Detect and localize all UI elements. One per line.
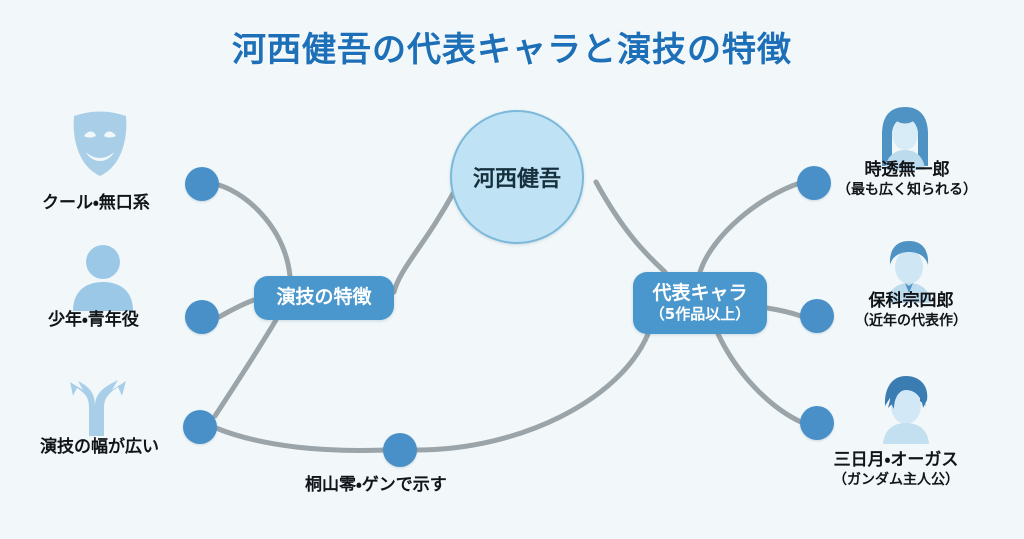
branch-node-acting[interactable]: 演技の特徴 [254,276,394,320]
leaf-label-range: 演技の幅が広い [40,437,159,458]
leaf-kiriyama-text: 桐山零・ゲンで示す [305,475,447,495]
leaf-hoshina-text: 保科宗四郎 [869,291,954,311]
link-hub-characters [596,182,665,272]
leaf-dot-mikazuki[interactable] [800,406,834,440]
leaf-dot-youth[interactable] [185,300,219,334]
branch-characters-label: 代表キャラ [652,283,747,305]
link-leaf3-leaf4 [216,428,384,450]
leaf-dot-cool[interactable] [185,167,219,201]
link-characters-char2 [767,308,801,316]
leaf-dot-tokito[interactable] [797,166,831,200]
leaf-range-text: 演技の幅が広い [40,437,159,457]
hub-node[interactable]: 河西健吾 [450,110,584,244]
leaf-mikazuki-text: 三日月・オーガス [834,450,959,470]
leaf-hoshina-subtext: （近年の代表作） [855,313,967,331]
branch-characters-sublabel: （5作品以上） [650,306,750,323]
theater-mask-icon [62,108,138,184]
leaf-dot-kiriyama[interactable] [383,433,417,467]
link-characters-leaf4 [416,334,648,450]
link-acting-leaf3 [215,320,276,416]
leaf-label-tokito: 時透無一郎 （最も広く知られる） [837,160,977,200]
link-characters-char3 [718,334,801,422]
person-silhouette-icon [70,243,136,315]
branching-arrows-icon [62,366,138,440]
link-hub-acting [394,190,455,292]
leaf-youth-text: 少年・青年役 [48,310,139,330]
leaf-cool-text: クール・無口系 [42,193,150,213]
branch-acting-label: 演技の特徴 [276,287,371,309]
link-acting-leaf1 [219,185,290,276]
leaf-tokito-text: 時透無一郎 [865,160,950,180]
mindmap-canvas: 河西健吾の代表キャラと演技の特徴 河西健吾 演技の特徴 代表キャラ （5作品以上… [0,0,1024,539]
leaf-label-hoshina: 保科宗四郎 （近年の代表作） [855,291,967,331]
avatar-spiky-hair-icon [874,374,938,448]
link-characters-char1 [700,183,800,272]
leaf-label-youth: 少年・青年役 [48,310,139,331]
leaf-dot-range[interactable] [183,410,217,444]
leaf-tokito-subtext: （最も広く知られる） [837,182,977,200]
leaf-label-mikazuki: 三日月・オーガス （ガンダム主人公） [833,450,959,490]
leaf-label-cool: クール・無口系 [42,193,150,214]
branch-node-characters[interactable]: 代表キャラ （5作品以上） [633,272,767,334]
hub-label: 河西健吾 [473,161,561,193]
link-acting-leaf2 [219,300,254,317]
leaf-label-kiriyama: 桐山零・ゲンで示す [305,475,447,496]
leaf-mikazuki-subtext: （ガンダム主人公） [833,472,959,490]
leaf-dot-hoshina[interactable] [800,299,834,333]
